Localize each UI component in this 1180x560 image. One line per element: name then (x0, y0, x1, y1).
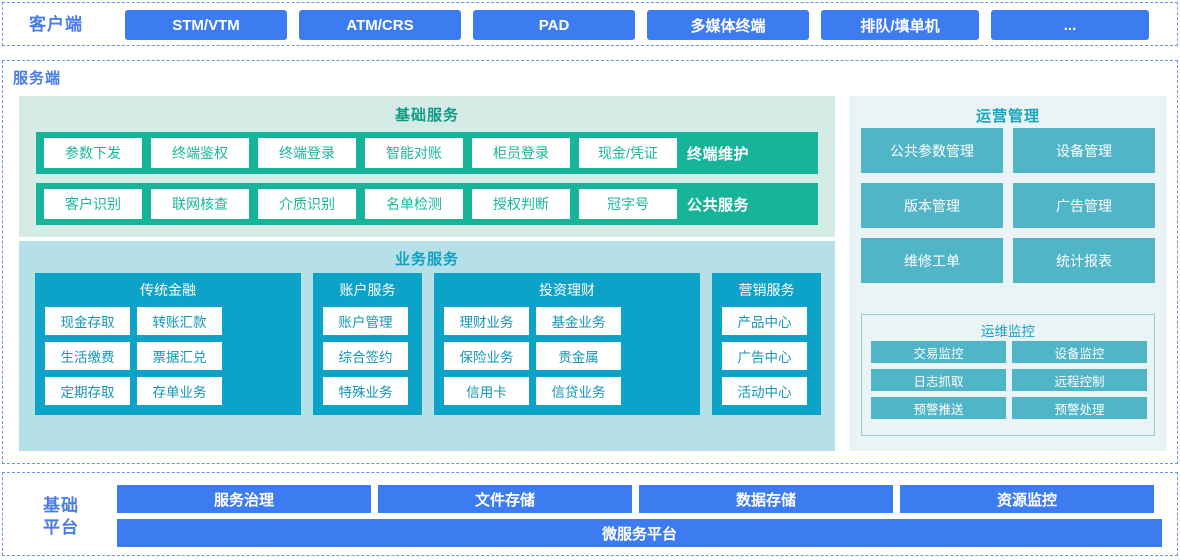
group-marketing-services: 营销服务 产品中心 广告中心 活动中心 (712, 273, 821, 415)
cell-transfer-remittance[interactable]: 转账汇款 (137, 307, 222, 335)
cell-campaign-center[interactable]: 活动中心 (722, 377, 807, 405)
cell-statistical-report[interactable]: 统计报表 (1013, 238, 1155, 283)
cell-advertising-center[interactable]: 广告中心 (722, 342, 807, 370)
cell-credit-business[interactable]: 信贷业务 (536, 377, 621, 405)
cell-param-dispatch[interactable]: 参数下发 (44, 138, 142, 168)
group-cells: 账户管理 综合签约 特殊业务 (323, 307, 412, 405)
architecture-diagram: 客户端 STM/VTM ATM/CRS PAD 多媒体终端 排队/填单机 ...… (0, 0, 1180, 560)
cell-credit-card[interactable]: 信用卡 (444, 377, 529, 405)
cell-cash-deposit-withdraw[interactable]: 现金存取 (45, 307, 130, 335)
group-title: 传统金融 (45, 280, 291, 307)
client-layer-band: 客户端 STM/VTM ATM/CRS PAD 多媒体终端 排队/填单机 ... (2, 2, 1178, 46)
cell-terminal-login[interactable]: 终端登录 (258, 138, 356, 168)
client-chip-queue-form-machine[interactable]: 排队/填单机 (821, 10, 979, 40)
group-cells: 产品中心 广告中心 活动中心 (722, 307, 811, 405)
cell-account-management[interactable]: 账户管理 (323, 307, 408, 335)
operations-management-panel: 运营管理 公共参数管理 设备管理 版本管理 广告管理 维修工单 统计报表 运维监… (849, 96, 1167, 451)
platform-layer-band: 基础 平台 服务治理 文件存储 数据存储 资源监控 微服务平台 (2, 472, 1178, 556)
cell-term-deposit[interactable]: 定期存取 (45, 377, 130, 405)
cell-certificate-deposit[interactable]: 存单业务 (137, 377, 222, 405)
operations-monitoring-title: 运维监控 (862, 315, 1154, 340)
group-account-services: 账户服务 账户管理 综合签约 特殊业务 (313, 273, 422, 415)
group-traditional-finance: 传统金融 现金存取 转账汇款 生活缴费 票据汇兑 定期存取 存单业务 (35, 273, 301, 415)
row-tag-terminal-maintenance: 终端维护 (687, 143, 749, 164)
cell-customer-identification[interactable]: 客户识别 (44, 189, 142, 219)
basic-services-row-public-services: 客户识别 联网核查 介质识别 名单检测 授权判断 冠字号 公共服务 (36, 183, 818, 225)
cell-authorization-judgment[interactable]: 授权判断 (472, 189, 570, 219)
client-chip-atm-crs[interactable]: ATM/CRS (299, 10, 461, 40)
client-layer-label: 客户端 (29, 13, 83, 37)
client-chip-more[interactable]: ... (991, 10, 1149, 40)
cell-bill-exchange[interactable]: 票据汇兑 (137, 342, 222, 370)
operations-cell-grid: 公共参数管理 设备管理 版本管理 广告管理 维修工单 统计报表 (861, 128, 1155, 283)
group-investment-wealth: 投资理财 理财业务 基金业务 保险业务 贵金属 信用卡 信贷业务 (434, 273, 700, 415)
group-cells: 现金存取 转账汇款 生活缴费 票据汇兑 定期存取 存单业务 (45, 307, 291, 405)
client-chip-stm-vtm[interactable]: STM/VTM (125, 10, 287, 40)
cell-comprehensive-signing[interactable]: 综合签约 (323, 342, 408, 370)
cell-alert-push[interactable]: 预警推送 (871, 397, 1006, 419)
cell-remote-control[interactable]: 远程控制 (1012, 369, 1147, 391)
business-services-panel: 业务服务 传统金融 现金存取 转账汇款 生活缴费 票据汇兑 定期存取 存单业务 (19, 241, 835, 451)
group-title: 投资理财 (444, 280, 690, 307)
cell-transaction-monitoring[interactable]: 交易监控 (871, 341, 1006, 363)
row-tag-public-services: 公共服务 (687, 194, 749, 215)
cell-product-center[interactable]: 产品中心 (722, 307, 807, 335)
operations-management-title: 运营管理 (849, 96, 1167, 126)
server-left-column: 基础服务 参数下发 终端鉴权 终端登录 智能对账 柜员登录 现金/凭证 终端维护… (19, 96, 835, 451)
group-title: 账户服务 (323, 280, 412, 307)
cell-fund-business[interactable]: 基金业务 (536, 307, 621, 335)
cell-log-capture[interactable]: 日志抓取 (871, 369, 1006, 391)
cell-teller-login[interactable]: 柜员登录 (472, 138, 570, 168)
cell-maintenance-work-order[interactable]: 维修工单 (861, 238, 1003, 283)
cell-version-management[interactable]: 版本管理 (861, 183, 1003, 228)
business-service-groups: 传统金融 现金存取 转账汇款 生活缴费 票据汇兑 定期存取 存单业务 账户服务 (35, 273, 821, 415)
client-chip-pad[interactable]: PAD (473, 10, 635, 40)
client-chip-multimedia-terminal[interactable]: 多媒体终端 (647, 10, 809, 40)
row-cells: 客户识别 联网核查 介质识别 名单检测 授权判断 冠字号 (44, 189, 677, 219)
server-layer-label: 服务端 (13, 69, 61, 89)
server-layer-band: 服务端 基础服务 参数下发 终端鉴权 终端登录 智能对账 柜员登录 现金/凭证 … (2, 60, 1178, 464)
cell-advertising-management[interactable]: 广告管理 (1013, 183, 1155, 228)
row-cells: 参数下发 终端鉴权 终端登录 智能对账 柜员登录 现金/凭证 (44, 138, 677, 168)
group-title: 营销服务 (722, 280, 811, 307)
business-services-title: 业务服务 (19, 241, 835, 269)
group-cells: 理财业务 基金业务 保险业务 贵金属 信用卡 信贷业务 (444, 307, 690, 405)
basic-services-panel: 基础服务 参数下发 终端鉴权 终端登录 智能对账 柜员登录 现金/凭证 终端维护… (19, 96, 835, 237)
cell-list-check[interactable]: 名单检测 (365, 189, 463, 219)
cell-smart-reconciliation[interactable]: 智能对账 (365, 138, 463, 168)
cell-precious-metals[interactable]: 贵金属 (536, 342, 621, 370)
cell-device-management[interactable]: 设备管理 (1013, 128, 1155, 173)
platform-layer-label: 基础 平台 (33, 495, 89, 539)
cell-cash-voucher[interactable]: 现金/凭证 (579, 138, 677, 168)
cell-microservice-platform[interactable]: 微服务平台 (117, 519, 1162, 547)
cell-wealth-management[interactable]: 理财业务 (444, 307, 529, 335)
platform-cell-list: 服务治理 文件存储 数据存储 资源监控 (117, 485, 1154, 513)
cell-service-governance[interactable]: 服务治理 (117, 485, 371, 513)
cell-alert-handling[interactable]: 预警处理 (1012, 397, 1147, 419)
client-chip-list: STM/VTM ATM/CRS PAD 多媒体终端 排队/填单机 ... (125, 10, 1149, 40)
cell-device-monitoring[interactable]: 设备监控 (1012, 341, 1147, 363)
operations-monitoring-grid: 交易监控 设备监控 日志抓取 远程控制 预警推送 预警处理 (871, 341, 1147, 419)
cell-public-parameter-management[interactable]: 公共参数管理 (861, 128, 1003, 173)
cell-file-storage[interactable]: 文件存储 (378, 485, 632, 513)
basic-services-row-terminal-maintenance: 参数下发 终端鉴权 终端登录 智能对账 柜员登录 现金/凭证 终端维护 (36, 132, 818, 174)
cell-resource-monitoring[interactable]: 资源监控 (900, 485, 1154, 513)
cell-crown-number[interactable]: 冠字号 (579, 189, 677, 219)
cell-data-storage[interactable]: 数据存储 (639, 485, 893, 513)
cell-terminal-auth[interactable]: 终端鉴权 (151, 138, 249, 168)
platform-label-line1: 基础 (33, 495, 89, 517)
platform-label-line2: 平台 (33, 517, 89, 539)
cell-special-business[interactable]: 特殊业务 (323, 377, 408, 405)
cell-living-payment[interactable]: 生活缴费 (45, 342, 130, 370)
cell-media-recognition[interactable]: 介质识别 (258, 189, 356, 219)
cell-online-verification[interactable]: 联网核查 (151, 189, 249, 219)
basic-services-title: 基础服务 (19, 96, 835, 125)
cell-insurance-business[interactable]: 保险业务 (444, 342, 529, 370)
operations-monitoring-box: 运维监控 交易监控 设备监控 日志抓取 远程控制 预警推送 预警处理 (861, 314, 1155, 436)
